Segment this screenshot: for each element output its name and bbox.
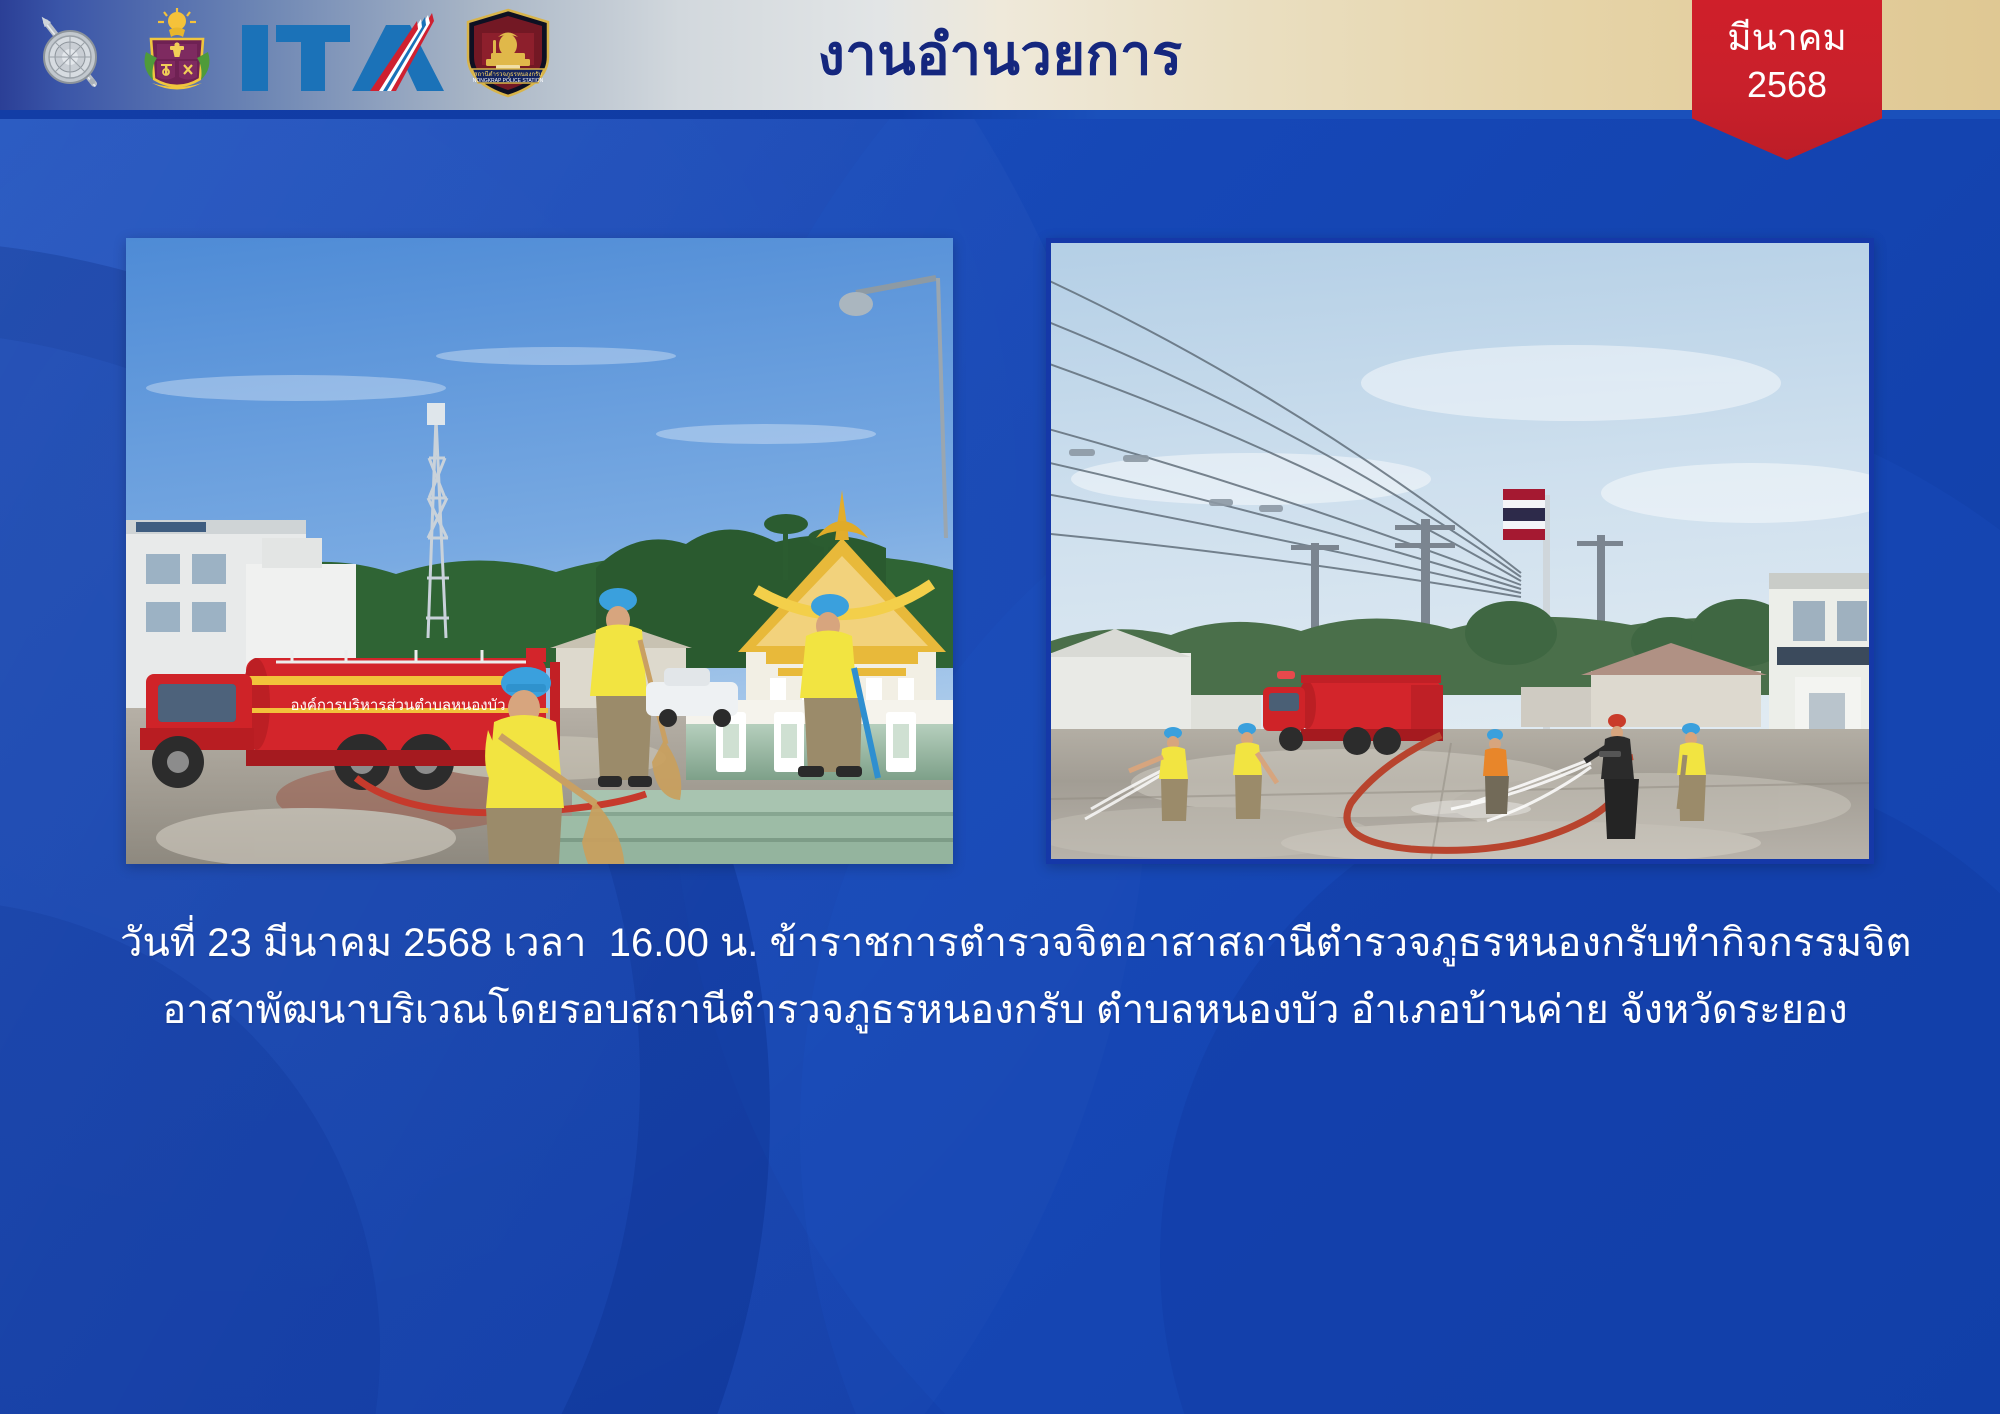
svg-text:สถานีตำรวจภูธรหนองกรับ: สถานีตำรวจภูธรหนองกรับ [474,70,542,78]
ita-logo-icon [236,7,446,104]
svg-text:NONGKRAP POLICE STATION: NONGKRAP POLICE STATION [473,78,544,84]
caption-line-1: วันที่ 23 มีนาคม 2568 เวลา 16.00 น. ข้าร… [120,910,1890,977]
ribbon-year-label: 2568 [1747,64,1827,106]
photo-row: องค์การบริหารส่วนตำบลหนองบัว [0,238,2000,864]
ribbon-month-label: มีนาคม [1727,16,1847,60]
caption-block: วันที่ 23 มีนาคม 2568 เวลา 16.00 น. ข้าร… [120,910,1890,1044]
logo-strip: สถานีตำรวจภูธรหนองกรับ NONGKRAP POLICE S… [22,5,554,105]
svg-text:องค์การบริหารส่วนตำบลหนองบัว: องค์การบริหารส่วนตำบลหนองบัว [290,697,505,714]
photo-left: องค์การบริหารส่วนตำบลหนองบัว [126,238,953,864]
royal-thai-police-emblem-icon [22,5,118,106]
photo-right [1046,238,1874,864]
caption-line-2: อาสาพัฒนาบริเวณโดยรอบสถานีตำรวจภูธรหนองก… [120,977,1890,1044]
nongkrap-police-badge-icon: สถานีตำรวจภูธรหนองกรับ NONGKRAP POLICE S… [462,7,554,104]
slide-root: สถานีตำรวจภูธรหนองกรับ NONGKRAP POLICE S… [0,0,2000,1414]
ministry-emblem-icon [134,7,220,104]
